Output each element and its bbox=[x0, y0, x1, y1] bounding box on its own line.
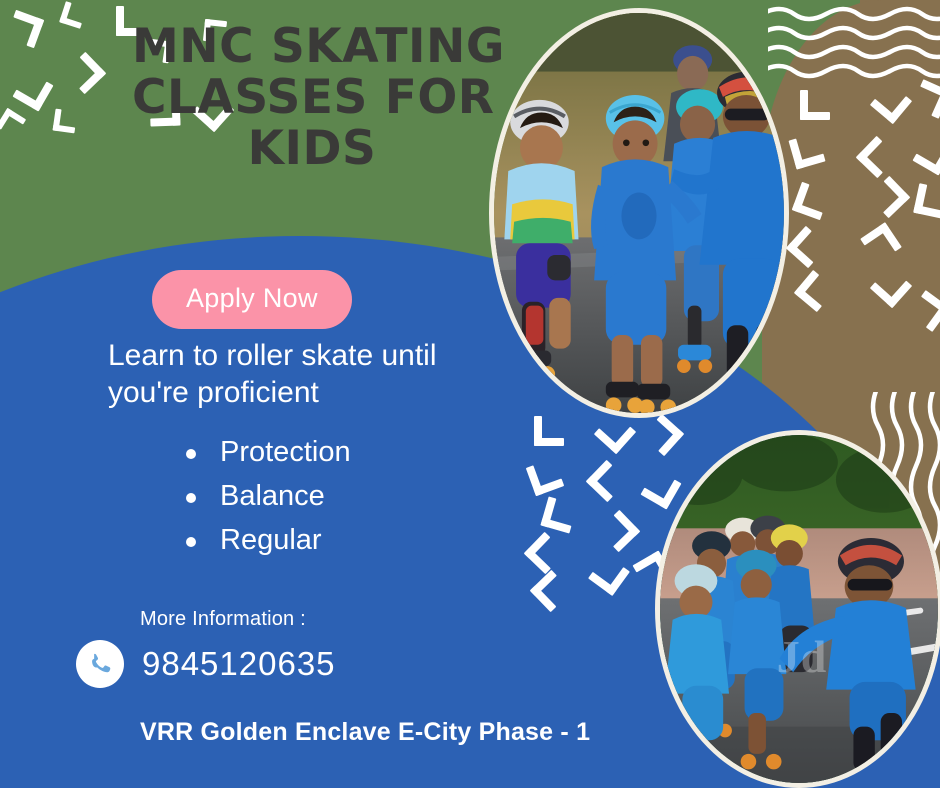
phone-contact-row[interactable]: 9845120635 bbox=[76, 640, 336, 688]
more-information-label: More Information : bbox=[140, 608, 306, 631]
chevron-decoration-icon bbox=[913, 183, 940, 219]
wave-lines-horizontal-icon bbox=[768, 6, 940, 90]
apply-now-button[interactable]: Apply Now bbox=[152, 270, 352, 329]
headline-line-2: CLASSES FOR bbox=[132, 73, 492, 124]
list-item: Regular bbox=[186, 518, 351, 562]
photo-skating-group-top bbox=[489, 8, 789, 418]
features-list: Protection Balance Regular bbox=[150, 430, 351, 562]
subheading-text: Learn to roller skate until you're profi… bbox=[108, 338, 508, 411]
chevron-decoration-icon bbox=[53, 109, 78, 134]
phone-number[interactable]: 9845120635 bbox=[142, 645, 336, 683]
phone-icon bbox=[76, 640, 124, 688]
address-text: VRR Golden Enclave E-City Phase - 1 bbox=[140, 718, 590, 747]
poster-canvas: Jd MNC SKATING CLASSES FOR KIDS Apply No… bbox=[0, 0, 940, 788]
list-item: Balance bbox=[186, 474, 351, 518]
headline-line-1: MNC SKATING bbox=[132, 22, 492, 73]
page-title: MNC SKATING CLASSES FOR KIDS bbox=[132, 22, 492, 174]
photo-skating-line-bottom: Jd bbox=[655, 430, 940, 788]
chevron-decoration-icon bbox=[534, 416, 564, 446]
chevron-decoration-icon bbox=[800, 90, 830, 120]
list-item: Protection bbox=[186, 430, 351, 474]
headline-line-3: KIDS bbox=[132, 124, 492, 175]
